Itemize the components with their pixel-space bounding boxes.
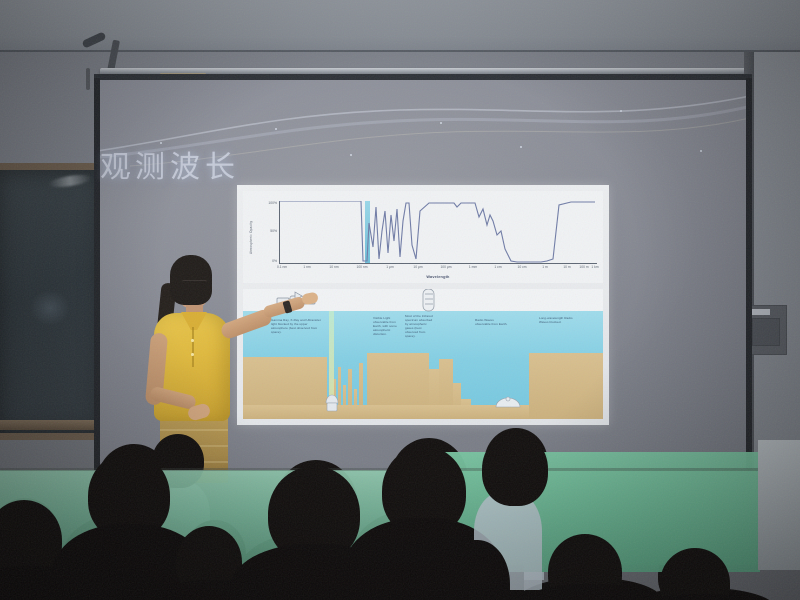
presenter-shirt-placket xyxy=(192,327,194,367)
shirt-button xyxy=(191,353,194,356)
x-tick-4: 1 μm xyxy=(386,265,393,269)
lecture-hall-photo: Atmospheric Opacity 100% 50% 0% 0.1 nm xyxy=(0,0,800,600)
chart-x-axis-title: Wavelength xyxy=(279,275,597,279)
x-tick-10: 1 m xyxy=(542,265,548,269)
y-tick-100: 100% xyxy=(268,201,277,205)
x-tick-8: 1 cm xyxy=(494,265,501,269)
star-dot xyxy=(620,110,622,112)
x-tick-11: 10 m xyxy=(563,265,570,269)
presenter-glasses xyxy=(182,280,207,287)
y-tick-50: 50% xyxy=(270,229,277,233)
x-tick-5: 10 μm xyxy=(413,265,422,269)
x-tick-1: 1 nm xyxy=(303,265,310,269)
audience-foreground xyxy=(0,430,800,600)
annotation-long-radio-blocked: Long-wavelength Radio Waves blocked. xyxy=(539,317,573,325)
shirt-button xyxy=(191,339,194,342)
x-tick-7: 1 mm xyxy=(469,265,477,269)
opacity-curve xyxy=(279,201,595,263)
star-dot xyxy=(700,150,702,152)
star-dot xyxy=(520,146,522,148)
x-tick-3: 100 nm xyxy=(357,265,368,269)
x-tick-2: 10 nm xyxy=(329,265,338,269)
satellite-icon xyxy=(417,289,439,317)
star-dot xyxy=(440,122,442,124)
slide-title: 观测波长 xyxy=(100,142,240,186)
ceiling xyxy=(0,0,800,52)
ceiling-seam xyxy=(0,50,800,52)
star-dot xyxy=(275,128,277,130)
audience-head xyxy=(660,548,730,600)
x-tick-9: 10 cm xyxy=(518,265,527,269)
audience-head xyxy=(482,432,548,506)
atmospheric-opacity-chart: Atmospheric Opacity 100% 50% 0% 0.1 nm xyxy=(243,191,603,283)
wall-control-box-inner xyxy=(752,318,780,346)
chalk-smudge-2 xyxy=(30,290,70,326)
radio-dish-icon xyxy=(495,393,521,409)
wall-control-box-strip xyxy=(752,309,770,315)
ground-block-long-radio xyxy=(529,353,603,419)
screen-pull-hook xyxy=(86,68,90,90)
star-dot xyxy=(350,154,352,156)
x-tick-13: 1 km xyxy=(591,265,598,269)
x-tick-6: 100 μm xyxy=(440,265,451,269)
chart-x-axis xyxy=(279,263,597,264)
chart-plot-area xyxy=(279,201,595,263)
annotation-radio-observable: Radio Waves observable from Earth. xyxy=(475,319,509,327)
ground-telescope-icon xyxy=(323,389,341,413)
annotation-infrared: Most of the Infrared spectrum absorbed b… xyxy=(405,315,433,338)
chart-x-ticks: 0.1 nm 1 nm 10 nm 100 nm 1 μm 10 μm 100 … xyxy=(279,265,597,275)
annotation-visible-light: Visible Light observable from Earth, wit… xyxy=(373,317,397,337)
x-tick-12: 100 m xyxy=(579,265,588,269)
